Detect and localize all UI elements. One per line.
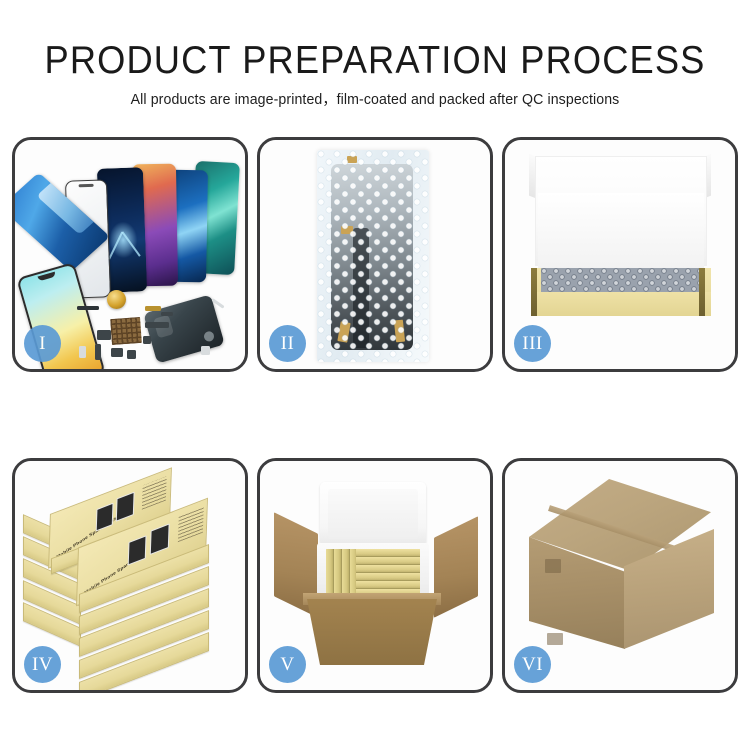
- small-part: [143, 336, 151, 344]
- page-header: PRODUCT PREPARATION PROCESS All products…: [0, 0, 750, 130]
- bubble-texture: [317, 150, 429, 362]
- flex-cable-part: [145, 322, 169, 328]
- inner-box: [356, 573, 420, 581]
- process-panel-1[interactable]: I: [12, 137, 248, 372]
- small-part: [161, 312, 173, 316]
- box-art-phone: [96, 503, 114, 532]
- small-part: [111, 348, 123, 357]
- boxes-inside-carton: [326, 549, 420, 597]
- photo-stacked-retail-boxes: Mobile Phone Spare Parts Mobile Phone Sp…: [15, 461, 245, 690]
- process-panel-grid: I II: [12, 137, 738, 737]
- small-part: [145, 306, 161, 311]
- inner-box: [356, 557, 420, 565]
- process-panel-6[interactable]: VI: [502, 458, 738, 693]
- inner-box: [342, 549, 350, 597]
- box-art-phone: [128, 535, 147, 565]
- process-panel-4[interactable]: Mobile Phone Spare Parts Mobile Phone Sp…: [12, 458, 248, 693]
- photo-carton-with-foam-and-boxes: V: [260, 461, 490, 690]
- inner-box: [356, 549, 420, 557]
- small-part: [79, 346, 86, 358]
- process-panel-3[interactable]: III: [502, 137, 738, 372]
- box-edge-right: [699, 268, 705, 316]
- chip-grid-part: [110, 317, 142, 345]
- inner-box: [356, 565, 420, 573]
- photo-phone-screens-and-spare-parts: I: [15, 140, 245, 369]
- box-edge-left: [531, 268, 537, 316]
- page-subtitle: All products are image-printed，film-coat…: [11, 88, 739, 109]
- carton-handle-tab: [547, 633, 563, 645]
- small-part: [201, 346, 210, 355]
- bubble-wrap-bag: [317, 150, 429, 362]
- carton-handle-tab: [545, 559, 561, 573]
- panel-badge-1: I: [24, 325, 61, 362]
- box-art-phone: [150, 523, 170, 555]
- box-art-phone: [116, 492, 135, 522]
- small-part: [127, 350, 136, 359]
- process-panel-5[interactable]: V: [257, 458, 493, 693]
- inner-box: [326, 549, 334, 597]
- panel-badge-6: VI: [514, 646, 551, 683]
- small-part: [77, 306, 99, 310]
- foam-lid: [320, 482, 426, 546]
- box-base-front: [531, 292, 711, 316]
- carton-body: [307, 599, 437, 665]
- box-spec-text: [142, 476, 167, 510]
- small-part: [97, 330, 111, 340]
- inner-box: [356, 581, 420, 589]
- copper-coil-part: [107, 290, 126, 309]
- small-part: [95, 344, 101, 360]
- inner-box: [334, 549, 342, 597]
- panel-badge-4: IV: [24, 646, 61, 683]
- panel-badge-5: V: [269, 646, 306, 683]
- panel-badge-2: II: [269, 325, 306, 362]
- photo-bubble-wrapped-part: II: [260, 140, 490, 369]
- process-panel-2[interactable]: II: [257, 137, 493, 372]
- page-title: PRODUCT PREPARATION PROCESS: [26, 40, 724, 82]
- foam-sheet: [538, 193, 704, 271]
- photo-sealed-shipping-carton: VI: [505, 461, 735, 690]
- box-spec-text: [178, 507, 204, 542]
- photo-open-inner-box-with-foam: III: [505, 140, 735, 369]
- panel-badge-3: III: [514, 325, 551, 362]
